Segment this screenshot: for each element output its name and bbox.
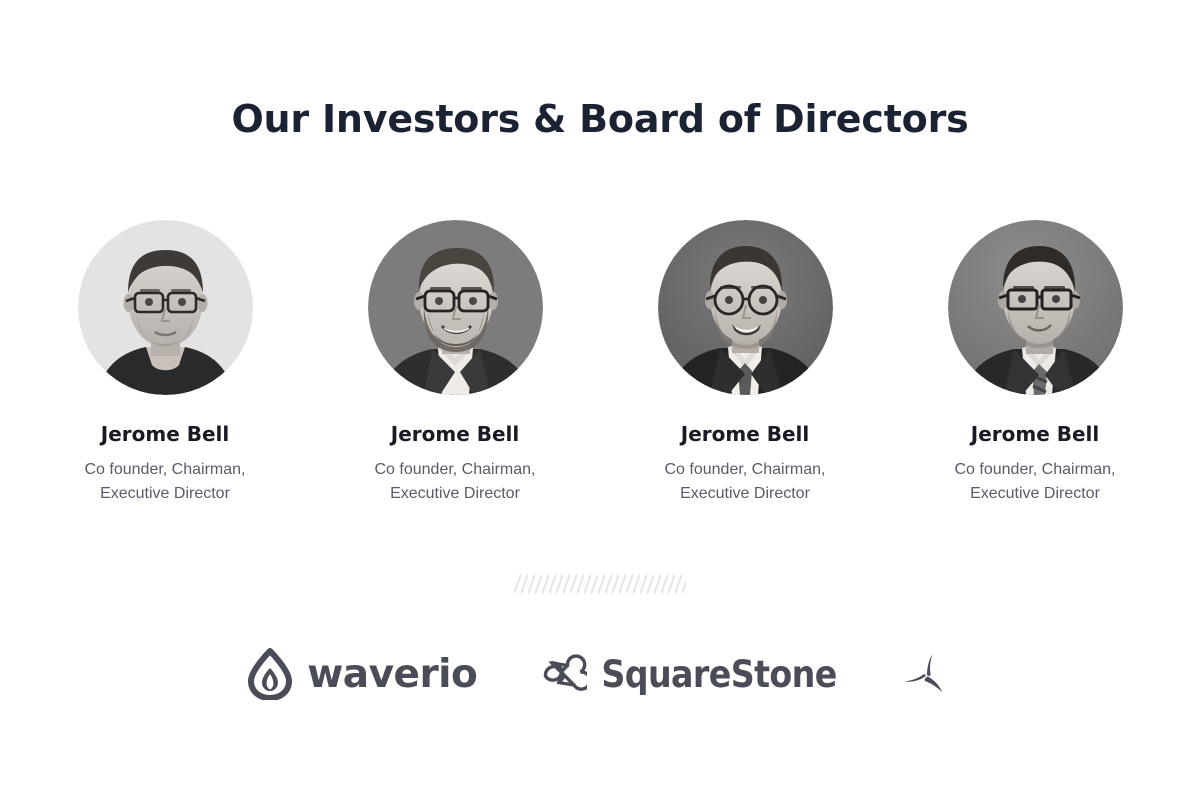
person-card[interactable]: Jerome Bell Co founder, Chairman, Execut… xyxy=(368,220,543,506)
people-grid: Jerome Bell Co founder, Chairman, Execut… xyxy=(0,220,1200,506)
person-name: Jerome Bell xyxy=(101,422,230,446)
person-role: Co founder, Chairman, Executive Director xyxy=(948,458,1123,506)
hatch-divider xyxy=(514,574,686,594)
person-card[interactable]: Jerome Bell Co founder, Chairman, Execut… xyxy=(948,220,1123,506)
logo-squarestone-text: SquareStone xyxy=(601,656,836,693)
person-name: Jerome Bell xyxy=(971,422,1100,446)
person-card[interactable]: Jerome Bell Co founder, Chairman, Execut… xyxy=(78,220,253,506)
propeller-triskelion-icon xyxy=(901,648,953,700)
squarestone-knot-icon xyxy=(539,650,587,698)
logo-squarestone[interactable]: SquareStone xyxy=(539,650,836,698)
person-card[interactable]: Jerome Bell Co founder, Chairman, Execut… xyxy=(658,220,833,506)
person-role: Co founder, Chairman, Executive Director xyxy=(368,458,543,506)
person-name: Jerome Bell xyxy=(391,422,520,446)
person-name: Jerome Bell xyxy=(681,422,810,446)
avatar xyxy=(78,220,253,395)
logo-waverio-text: waverio xyxy=(307,655,477,694)
avatar xyxy=(368,220,543,395)
investor-logos: waverio SquareStone xyxy=(0,648,1200,700)
avatar xyxy=(948,220,1123,395)
person-role: Co founder, Chairman, Executive Director xyxy=(658,458,833,506)
avatar xyxy=(658,220,833,395)
person-role: Co founder, Chairman, Executive Director xyxy=(78,458,253,506)
logo-propeller[interactable] xyxy=(901,648,953,700)
waverio-droplet-flame-icon xyxy=(247,648,293,700)
page-title: Our Investors & Board of Directors xyxy=(0,96,1200,142)
logo-waverio[interactable]: waverio xyxy=(247,648,477,700)
investors-section: Our Investors & Board of Directors xyxy=(0,0,1200,800)
